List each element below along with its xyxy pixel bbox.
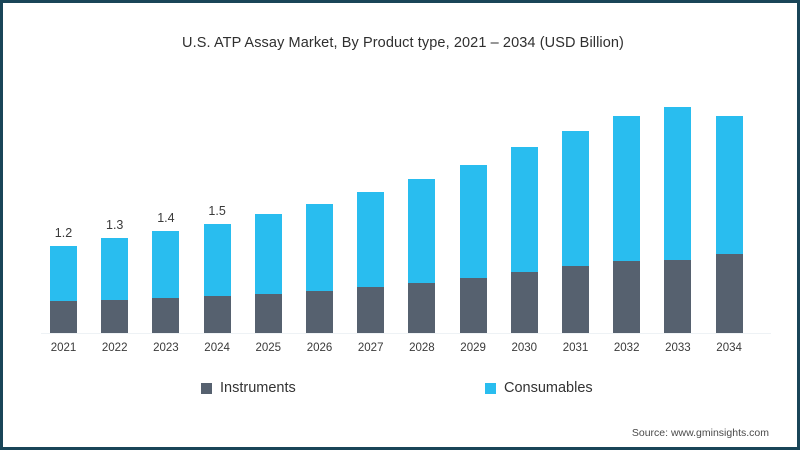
legend-swatch-icon bbox=[201, 383, 212, 394]
bar-stack[interactable]: 1.5 bbox=[204, 224, 231, 333]
bar-value-label: 1.2 bbox=[55, 226, 72, 240]
bar-segment-instruments[interactable] bbox=[152, 298, 179, 333]
bar-segment-instruments[interactable] bbox=[562, 266, 589, 333]
bar-segment-instruments[interactable] bbox=[306, 291, 333, 333]
bar-stack[interactable] bbox=[408, 179, 435, 333]
legend-swatch-icon bbox=[485, 383, 496, 394]
legend-item-instruments[interactable]: Instruments bbox=[201, 380, 296, 396]
source-credit: Source: www.gminsights.com bbox=[632, 427, 769, 439]
bar-segment-consumables[interactable] bbox=[664, 107, 691, 260]
bar-stack[interactable] bbox=[716, 116, 743, 333]
x-axis-tick-label: 2026 bbox=[294, 342, 345, 354]
bar-segment-instruments[interactable] bbox=[664, 260, 691, 333]
bar-segment-consumables[interactable] bbox=[306, 204, 333, 291]
bar-segment-instruments[interactable] bbox=[613, 261, 640, 333]
x-axis-tick-label: 2031 bbox=[550, 342, 601, 354]
bar-segment-consumables[interactable] bbox=[204, 224, 231, 296]
bar-segment-instruments[interactable] bbox=[357, 287, 384, 333]
x-axis-tick-label: 2028 bbox=[396, 342, 447, 354]
bar-stack[interactable] bbox=[664, 107, 691, 333]
bar-segment-consumables[interactable] bbox=[357, 192, 384, 287]
x-axis-tick-label: 2029 bbox=[448, 342, 499, 354]
bar-stack[interactable] bbox=[306, 204, 333, 333]
x-axis-tick-label: 2030 bbox=[499, 342, 550, 354]
x-axis-tick-label: 2033 bbox=[652, 342, 703, 354]
bar-segment-instruments[interactable] bbox=[716, 254, 743, 333]
legend-item-consumables[interactable]: Consumables bbox=[485, 380, 593, 396]
legend-label: Instruments bbox=[220, 380, 296, 396]
bar-value-label: 1.3 bbox=[106, 218, 123, 232]
bar-segment-instruments[interactable] bbox=[204, 296, 231, 333]
chart-legend: InstrumentsConsumables bbox=[3, 380, 800, 402]
bar-segment-instruments[interactable] bbox=[101, 300, 128, 333]
bar-segment-consumables[interactable] bbox=[716, 116, 743, 254]
bar-stack[interactable]: 1.4 bbox=[152, 231, 179, 333]
x-axis-tick-label: 2021 bbox=[38, 342, 89, 354]
bar-segment-consumables[interactable] bbox=[511, 147, 538, 272]
bar-segment-consumables[interactable] bbox=[152, 231, 179, 298]
bar-segment-instruments[interactable] bbox=[50, 301, 77, 333]
bar-segment-consumables[interactable] bbox=[255, 214, 282, 294]
bar-stack[interactable] bbox=[562, 131, 589, 333]
legend-label: Consumables bbox=[504, 380, 593, 396]
bar-stack[interactable] bbox=[511, 147, 538, 333]
x-axis-tick-label: 2034 bbox=[704, 342, 755, 354]
x-axis-tick-label: 2023 bbox=[140, 342, 191, 354]
chart-frame: U.S. ATP Assay Market, By Product type, … bbox=[0, 0, 800, 450]
bar-segment-consumables[interactable] bbox=[50, 246, 77, 301]
bar-stack[interactable]: 1.2 bbox=[50, 246, 77, 333]
bar-segment-instruments[interactable] bbox=[460, 278, 487, 333]
bar-segment-instruments[interactable] bbox=[408, 283, 435, 333]
bar-stack[interactable]: 1.3 bbox=[101, 238, 128, 333]
bar-segment-consumables[interactable] bbox=[460, 165, 487, 278]
bar-stack[interactable] bbox=[357, 192, 384, 333]
axis-baseline bbox=[41, 333, 771, 334]
bar-stack[interactable] bbox=[255, 214, 282, 333]
bar-segment-consumables[interactable] bbox=[101, 238, 128, 300]
bar-segment-consumables[interactable] bbox=[408, 179, 435, 283]
bar-stack[interactable] bbox=[460, 165, 487, 333]
bar-segment-consumables[interactable] bbox=[562, 131, 589, 266]
bar-segment-instruments[interactable] bbox=[255, 294, 282, 333]
bar-segment-consumables[interactable] bbox=[613, 116, 640, 261]
x-axis-tick-label: 2027 bbox=[345, 342, 396, 354]
bar-value-label: 1.4 bbox=[157, 211, 174, 225]
x-axis-tick-label: 2024 bbox=[192, 342, 243, 354]
x-axis-tick-label: 2032 bbox=[601, 342, 652, 354]
bar-value-label: 1.5 bbox=[208, 204, 225, 218]
x-axis-tick-label: 2022 bbox=[89, 342, 140, 354]
bar-stack[interactable] bbox=[613, 116, 640, 333]
x-axis-tick-label: 2025 bbox=[243, 342, 294, 354]
bar-segment-instruments[interactable] bbox=[511, 272, 538, 333]
